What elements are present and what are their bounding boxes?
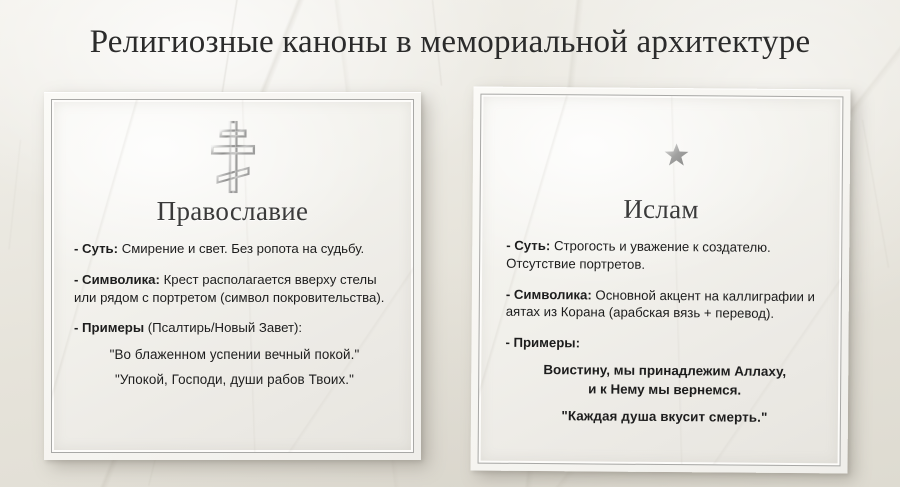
section-symbolism: - Символика: Основной акцент на каллигра… (506, 285, 825, 323)
section-examples: - Примеры (Псалтирь/Новый Завет): "Во бл… (74, 319, 395, 389)
section-label: - Примеры (74, 320, 144, 335)
section-essence: - Суть: Строгость и уважение к создателю… (506, 237, 825, 275)
marble-vein (9, 140, 21, 250)
orthodox-cross-icon (52, 118, 413, 196)
section-label: - Примеры: (505, 335, 580, 351)
section-text: (Псалтирь/Новый Завет): (144, 320, 302, 335)
plaque-inner-islam: Ислам - Суть: Строгость и уважение к соз… (478, 94, 844, 467)
quote-line: "Во блаженном успении вечный покой." (74, 346, 395, 364)
quote-line: "Упокой, Господи, души рабов Твоих." (74, 371, 395, 389)
quote-line: "Каждая душа вкусит смерть." (505, 407, 824, 428)
plaque-heading-orthodoxy: Православие (52, 196, 413, 227)
crescent-star-icon (481, 117, 843, 194)
section-text: Смирение и свет. Без ропота на судьбу. (118, 241, 364, 256)
section-label: - Символика: (506, 286, 592, 302)
plaque-inner-orthodoxy: Православие - Суть: Смирение и свет. Без… (51, 99, 414, 453)
section-label: - Суть: (74, 241, 118, 256)
plaque-body-orthodoxy: - Суть: Смирение и свет. Без ропота на с… (74, 240, 395, 389)
plaque-body-islam: - Суть: Строгость и уважение к создателю… (505, 237, 825, 428)
section-examples: - Примеры: Воистину, мы принадлежим Алла… (505, 334, 825, 428)
section-essence: - Суть: Смирение и свет. Без ропота на с… (74, 240, 395, 258)
section-symbolism: - Символика: Крест располагается вверху … (74, 271, 395, 307)
section-label: - Суть: (506, 238, 550, 253)
verse-line: и к Нему мы вернемся. (505, 380, 824, 401)
marble-vein (862, 120, 889, 268)
plaque-orthodoxy: Православие - Суть: Смирение и свет. Без… (44, 92, 421, 460)
verse-line: Воистину, мы принадлежим Аллаху, (505, 361, 824, 382)
plaque-islam: Ислам - Суть: Строгость и уважение к соз… (470, 87, 850, 474)
section-label: - Символика: (74, 272, 160, 287)
page-title: Религиозные каноны в мемориальной архите… (0, 24, 900, 61)
plaque-heading-islam: Ислам (480, 193, 841, 227)
